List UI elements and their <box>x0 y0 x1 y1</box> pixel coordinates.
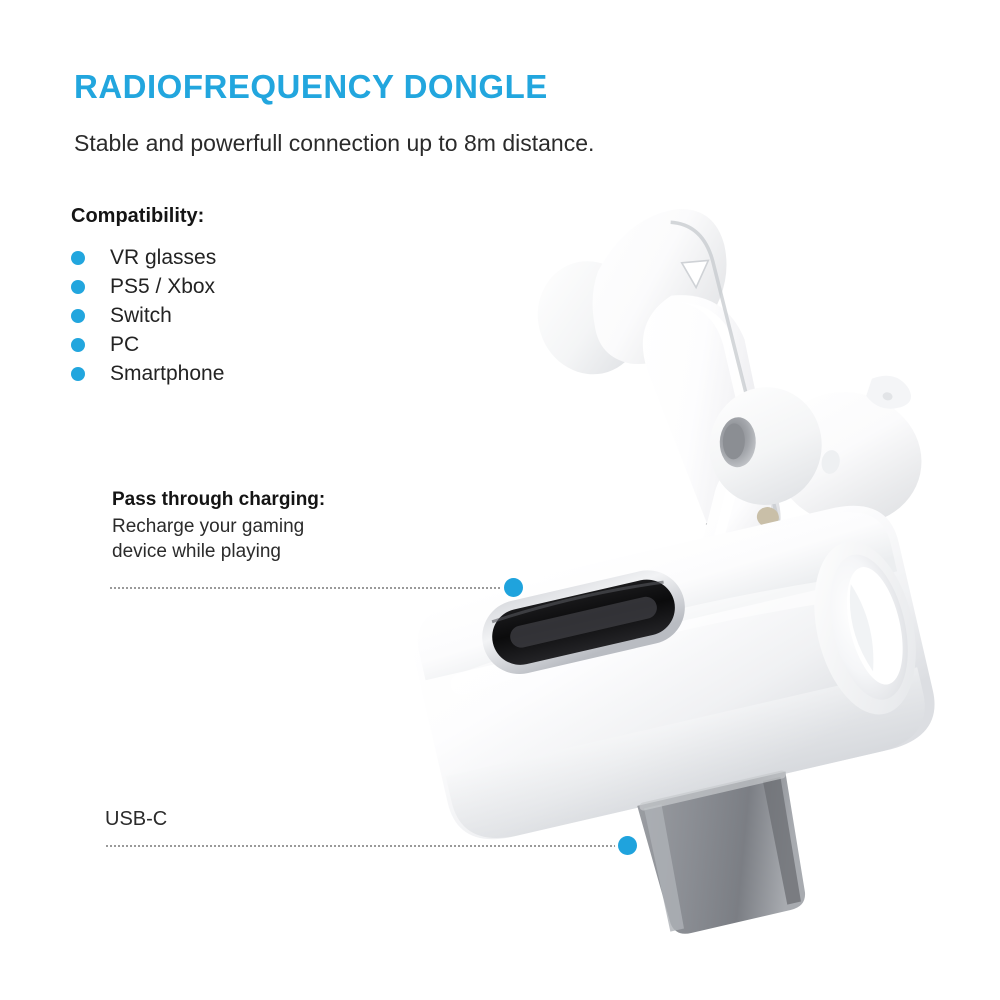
earbud-left-ear-tip <box>523 247 657 388</box>
list-item: Smartphone <box>71 359 224 388</box>
earbud-right-contact-lower <box>715 558 741 582</box>
earbud-right-stem <box>682 447 782 642</box>
earbud-right-top-dot <box>882 391 893 401</box>
earbud-right-marking-r: R <box>717 534 749 557</box>
product-infographic: R <box>0 0 1000 1000</box>
list-item: PS5 / Xbox <box>71 272 224 301</box>
callout-leader-line <box>110 587 508 591</box>
dongle-usb-c-plug <box>637 770 816 939</box>
dongle-cavity <box>798 531 931 724</box>
earbud-left-vent-icon <box>682 255 715 290</box>
compatibility-item-label: VR glasses <box>110 247 216 268</box>
earbud-left-tip-collar <box>595 263 652 352</box>
page-subtitle: Stable and powerfull connection up to 8m… <box>74 130 594 157</box>
compatibility-item-label: PS5 / Xbox <box>110 276 215 297</box>
bullet-icon <box>71 251 85 265</box>
earbud-right-contact-upper <box>755 505 781 529</box>
usb-c-port-tongue <box>508 595 659 650</box>
usb-c-plug-highlight <box>642 804 690 931</box>
callout-marker-dot <box>618 836 637 855</box>
dongle <box>403 496 974 980</box>
earbud-right-stem-highlight <box>693 457 758 630</box>
callout-leader-line <box>106 845 624 849</box>
earbud-left-stem-highlight <box>678 289 795 540</box>
callout-line: device while playing <box>112 539 325 564</box>
earbud-left-housing <box>567 197 752 376</box>
earbud-left-mic-dot <box>704 516 721 532</box>
callout-line: Recharge your gaming <box>112 514 325 539</box>
compatibility-heading: Compatibility: <box>71 205 204 228</box>
earbud-left-seam <box>648 214 816 593</box>
dongle-body <box>403 496 944 850</box>
list-item: Switch <box>71 301 224 330</box>
callout-line: USB-C <box>105 806 167 833</box>
callout-pass-through-charging: Pass through charging: Recharge your gam… <box>112 489 325 565</box>
earbud-right-nub <box>819 448 842 475</box>
earbud-left <box>517 197 831 634</box>
earbud-right-top-tab <box>864 372 914 413</box>
bullet-icon <box>71 338 85 352</box>
compatibility-item-label: Switch <box>110 305 172 326</box>
bullet-icon <box>71 280 85 294</box>
earbud-right-nozzle-bore <box>722 423 745 460</box>
compatibility-item-label: Smartphone <box>110 363 224 384</box>
page-title: RADIOFREQUENCY DONGLE <box>74 68 548 106</box>
compatibility-list: VR glasses PS5 / Xbox Switch PC Smartpho… <box>71 243 224 388</box>
usb-c-plug-collar <box>639 770 787 812</box>
dongle-top-face <box>410 503 897 680</box>
earbud-right-housing <box>762 379 934 539</box>
earbud-left-stem <box>628 278 809 568</box>
callout-title: Pass through charging: <box>112 489 325 511</box>
callout-marker-dot <box>504 578 523 597</box>
dongle-gloss <box>458 586 831 685</box>
usb-c-plug-body <box>637 772 816 939</box>
bullet-icon <box>71 367 85 381</box>
earbud-right-nozzle <box>719 417 757 468</box>
dongle-bottom-shade <box>446 667 934 848</box>
earbud-right-ear-tip <box>699 377 833 516</box>
list-item: VR glasses <box>71 243 224 272</box>
callout-usb-c: USB-C <box>105 806 167 833</box>
earbud-right: R <box>670 342 939 671</box>
usb-c-plug-shadow <box>759 777 809 905</box>
compatibility-item-label: PC <box>110 334 139 355</box>
bullet-icon <box>71 309 85 323</box>
list-item: PC <box>71 330 224 359</box>
